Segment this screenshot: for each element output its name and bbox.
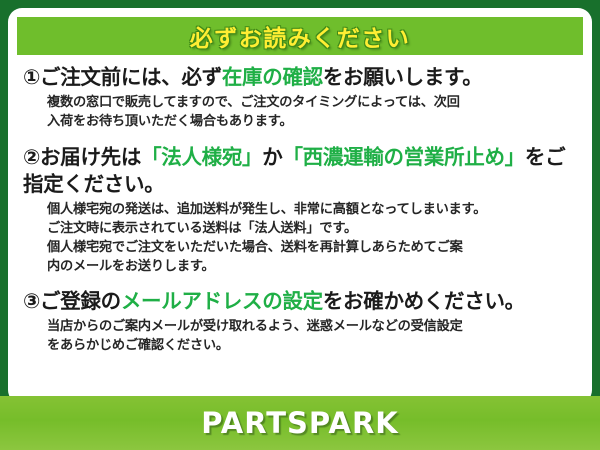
notice-content: ①ご注文前には、必ず在庫の確認をお願いします。 複数の窓口で販売してますので、ご… — [17, 55, 583, 355]
notice-item-2-body-line-1: 個人様宅宛の発送は、追加送料が発生し、非常に高額となってしまいます。 — [47, 200, 577, 219]
notice-item-3: ③ご登録のメールアドレスの設定をお確かめください。 当店からのご案内メールが受け… — [23, 288, 577, 356]
notice-item-2-highlight-corporate: 「法人様宛」 — [141, 145, 262, 169]
item-spacer-1 — [23, 134, 577, 144]
notice-item-3-body-line-2: をあらかじめご確認ください。 — [47, 336, 577, 355]
notice-item-1-body-line-1: 複数の窓口で販売してますので、ご注文のタイミングによっては、次回 — [47, 93, 577, 112]
notice-item-2-heading: ②お届け先は「法人様宛」か「西濃運輸の営業所止め」をご指定ください。 — [23, 144, 577, 199]
notice-item-2-heading-part-1: ②お届け先は — [23, 145, 141, 169]
notice-item-1-heading-part-1: ①ご注文前には、必ず — [23, 65, 222, 89]
notice-item-1-heading-part-3: をお願いします。 — [323, 65, 483, 89]
notice-item-2-body-line-4: 内のメールをお送りします。 — [47, 257, 577, 276]
notice-item-3-heading-part-3: をお確かめください。 — [323, 289, 525, 313]
notice-item-3-body: 当店からのご案内メールが受け取れるよう、迷惑メールなどの受信設定 をあらかじめご… — [23, 317, 577, 355]
notice-item-3-body-line-1: 当店からのご案内メールが受け取れるよう、迷惑メールなどの受信設定 — [47, 317, 577, 336]
notice-item-3-heading-part-1: ③ご登録の — [23, 289, 121, 313]
item-spacer-2 — [23, 279, 577, 288]
notice-item-2-body-line-3: 個人様宅宛でご注文をいただいた場合、送料を再計算しあらためてご案 — [47, 238, 577, 257]
notice-item-2-body-line-2: ご注文時に表示されている送料は「法人送料」です。 — [47, 219, 577, 238]
brand-logo-partspark: PARTSPARK — [201, 406, 399, 440]
notice-item-1-body: 複数の窓口で販売してますので、ご注文のタイミングによっては、次回 入荷をお待ち頂… — [23, 93, 577, 131]
notice-item-1-body-line-2: 入荷をお待ち頂いただく場合もあります。 — [47, 112, 577, 131]
notice-item-2: ②お届け先は「法人様宛」か「西濃運輸の営業所止め」をご指定ください。 個人様宅宛… — [23, 144, 577, 277]
notice-frame: 必ずお読みください ①ご注文前には、必ず在庫の確認をお願いします。 複数の窓口で… — [0, 0, 600, 450]
header-title: 必ずお読みください — [190, 19, 411, 53]
notice-item-3-heading: ③ご登録のメールアドレスの設定をお確かめください。 — [23, 288, 577, 315]
notice-item-3-highlight: メールアドレスの設定 — [121, 289, 323, 313]
notice-item-2-highlight-depot: 「西濃運輸の営業所止め」 — [282, 145, 524, 169]
header-band: 必ずお読みください — [17, 17, 583, 55]
notice-item-1: ①ご注文前には、必ず在庫の確認をお願いします。 複数の窓口で販売してますので、ご… — [23, 64, 577, 132]
notice-item-2-heading-part-3: か — [262, 145, 282, 169]
footer-bar: PARTSPARK — [0, 396, 600, 450]
notice-item-2-body: 個人様宅宛の発送は、追加送料が発生し、非常に高額となってしまいます。 ご注文時に… — [23, 200, 577, 277]
notice-item-1-highlight: 在庫の確認 — [222, 65, 323, 89]
notice-item-1-heading: ①ご注文前には、必ず在庫の確認をお願いします。 — [23, 64, 577, 91]
notice-panel: 必ずお読みください ①ご注文前には、必ず在庫の確認をお願いします。 複数の窓口で… — [8, 8, 592, 404]
